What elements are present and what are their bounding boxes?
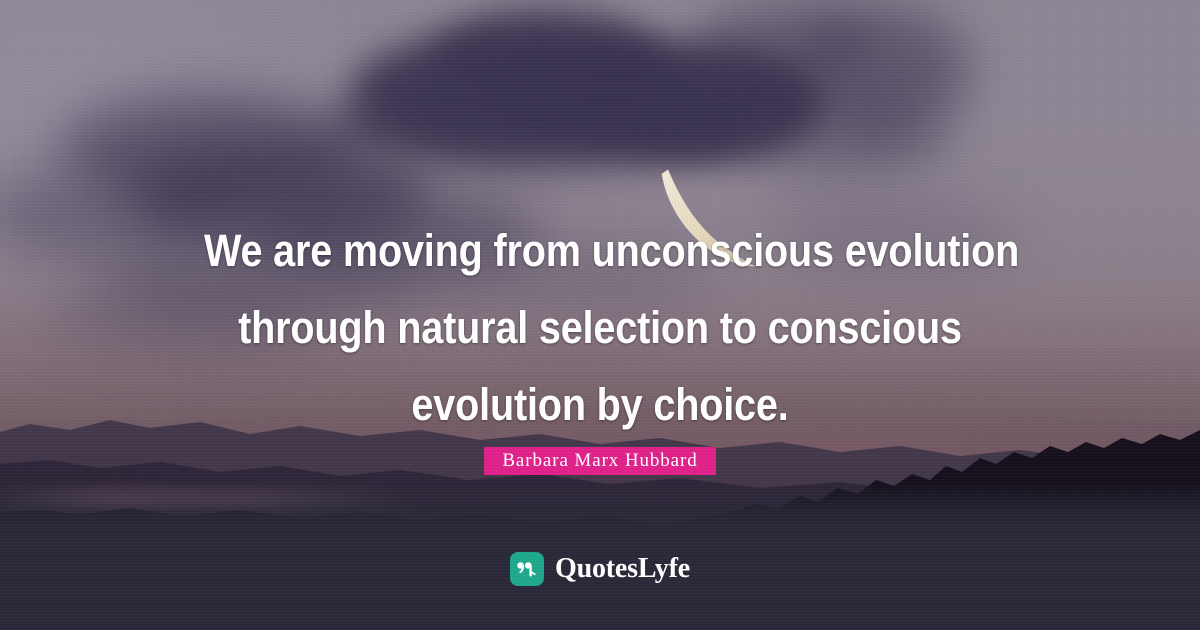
- footer-fade: [0, 484, 1200, 530]
- quote-mark-icon: [510, 552, 544, 586]
- quote-line: through natural selection to conscious: [204, 289, 996, 366]
- quote-text: We are moving from unconscious evolution…: [72, 212, 1128, 443]
- brand-name: QuotesLyfe: [555, 554, 690, 584]
- quote-line: We are moving from unconscious evolution: [204, 212, 996, 289]
- quote-card: We are moving from unconscious evolution…: [0, 0, 1200, 630]
- brand-logo[interactable]: QuotesLyfe: [0, 552, 1200, 586]
- cloud-shape: [740, 95, 950, 175]
- author-name-badge[interactable]: Barbara Marx Hubbard: [484, 447, 715, 475]
- author-badge-container: Barbara Marx Hubbard: [0, 447, 1200, 475]
- quote-line: evolution by choice.: [204, 366, 996, 443]
